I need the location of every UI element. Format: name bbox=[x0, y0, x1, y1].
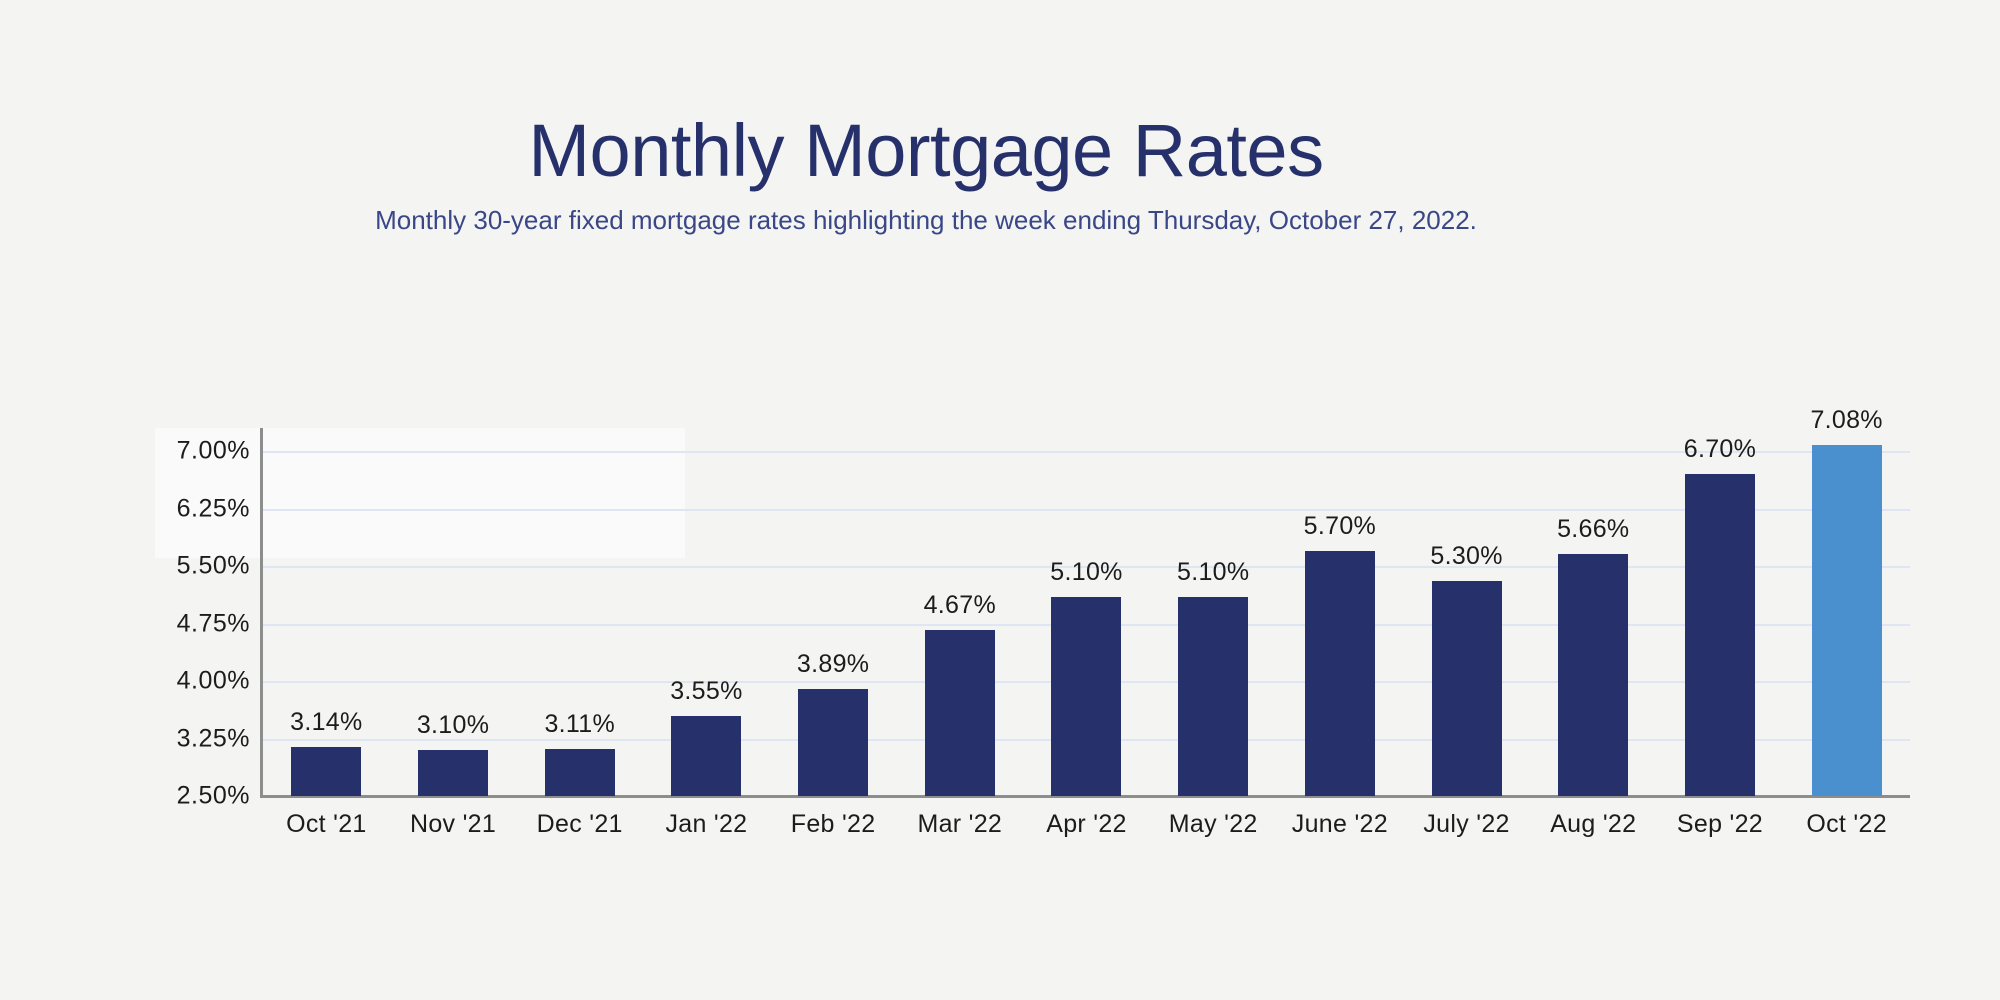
x-axis-tick-label: Apr '22 bbox=[1046, 810, 1127, 839]
x-axis-tick-label: Jan '22 bbox=[665, 810, 747, 839]
bar[interactable] bbox=[1432, 581, 1502, 796]
bar-group[interactable]: 3.14% bbox=[263, 428, 390, 796]
bar-group[interactable]: 5.70% bbox=[1277, 428, 1404, 796]
bar-value-label: 5.10% bbox=[1177, 558, 1249, 587]
bar-group[interactable]: 4.67% bbox=[896, 428, 1023, 796]
bar[interactable] bbox=[1685, 474, 1755, 796]
bar-value-label: 4.67% bbox=[924, 591, 996, 620]
x-axis-tick-label: May '22 bbox=[1169, 810, 1258, 839]
bar[interactable] bbox=[291, 747, 361, 796]
x-axis-tick-label: Mar '22 bbox=[917, 810, 1002, 839]
bar-value-label: 5.30% bbox=[1430, 542, 1502, 571]
bar-group[interactable]: 3.10% bbox=[390, 428, 517, 796]
x-axis-tick-label: Sep '22 bbox=[1677, 810, 1763, 839]
bar-value-label: 3.11% bbox=[544, 710, 615, 739]
bar-value-label: 7.08% bbox=[1810, 406, 1882, 435]
bar-group[interactable]: 3.11% bbox=[516, 428, 643, 796]
y-axis-tick-label: 7.00% bbox=[177, 437, 250, 466]
bar-group[interactable]: 5.66% bbox=[1530, 428, 1657, 796]
bar-group[interactable]: 7.08% bbox=[1783, 428, 1910, 796]
bar[interactable] bbox=[1178, 597, 1248, 796]
chart-page: Monthly Mortgage Rates Monthly 30-year f… bbox=[0, 0, 2000, 1000]
bar-value-label: 3.10% bbox=[417, 711, 489, 740]
bar[interactable] bbox=[1558, 554, 1628, 796]
x-axis-tick-label: Nov '21 bbox=[410, 810, 496, 839]
bar[interactable] bbox=[671, 716, 741, 797]
bar-group[interactable]: 3.55% bbox=[643, 428, 770, 796]
bar-value-label: 5.66% bbox=[1557, 515, 1629, 544]
y-axis-tick-label: 5.50% bbox=[177, 552, 250, 581]
bar-group[interactable]: 5.10% bbox=[1150, 428, 1277, 796]
bar-group[interactable]: 6.70% bbox=[1657, 428, 1784, 796]
bar-group[interactable]: 5.30% bbox=[1403, 428, 1530, 796]
x-axis-tick-label: July '22 bbox=[1423, 810, 1509, 839]
chart-header: Monthly Mortgage Rates Monthly 30-year f… bbox=[0, 108, 1852, 236]
bar-value-label: 3.14% bbox=[290, 708, 362, 737]
bar-highlighted[interactable] bbox=[1812, 445, 1882, 796]
bar-group[interactable]: 5.10% bbox=[1023, 428, 1150, 796]
bar-value-label: 3.89% bbox=[797, 650, 869, 679]
y-axis-tick-label: 2.50% bbox=[177, 782, 250, 811]
x-axis-tick-label: June '22 bbox=[1292, 810, 1388, 839]
y-axis: 2.50%3.25%4.00%4.75%5.50%6.25%7.00% bbox=[155, 428, 250, 828]
bar[interactable] bbox=[1305, 551, 1375, 796]
x-axis-tick-label: Oct '21 bbox=[286, 810, 367, 839]
bar-value-label: 3.55% bbox=[670, 677, 742, 706]
x-axis-tick-label: Feb '22 bbox=[791, 810, 876, 839]
x-axis-tick-label: Dec '21 bbox=[537, 810, 623, 839]
bar-value-label: 5.70% bbox=[1304, 512, 1376, 541]
bar[interactable] bbox=[925, 630, 995, 796]
bar[interactable] bbox=[418, 750, 488, 796]
bar-group[interactable]: 3.89% bbox=[770, 428, 897, 796]
bar-value-label: 6.70% bbox=[1684, 435, 1756, 464]
y-axis-tick-label: 6.25% bbox=[177, 494, 250, 523]
page-title: Monthly Mortgage Rates bbox=[0, 108, 1852, 194]
x-axis-tick-label: Oct '22 bbox=[1806, 810, 1887, 839]
bar[interactable] bbox=[545, 749, 615, 796]
y-axis-tick-label: 4.75% bbox=[177, 609, 250, 638]
chart-subtitle: Monthly 30-year fixed mortgage rates hig… bbox=[0, 204, 1852, 236]
y-axis-tick-label: 3.25% bbox=[177, 724, 250, 753]
x-axis-tick-label: Aug '22 bbox=[1550, 810, 1636, 839]
x-axis: Oct '21Nov '21Dec '21Jan '22Feb '22Mar '… bbox=[263, 810, 1910, 856]
bar-series: 3.14%3.10%3.11%3.55%3.89%4.67%5.10%5.10%… bbox=[263, 428, 1910, 796]
y-axis-tick-label: 4.00% bbox=[177, 667, 250, 696]
bar[interactable] bbox=[1051, 597, 1121, 796]
plot-area: 2.50%3.25%4.00%4.75%5.50%6.25%7.00% 3.14… bbox=[155, 428, 1915, 868]
bar[interactable] bbox=[798, 689, 868, 796]
bar-value-label: 5.10% bbox=[1050, 558, 1122, 587]
